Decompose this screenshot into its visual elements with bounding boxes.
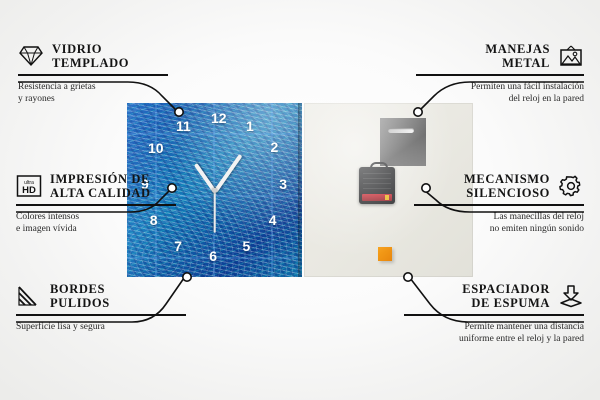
callout-mecanismo-silencioso: MECANISMO SILENCIOSO Las manecillas del … (414, 172, 584, 235)
callout-header: BORDES PULIDOS (16, 282, 186, 310)
callout-header: MECANISMO SILENCIOSO (414, 172, 584, 200)
title-line-2: SILENCIOSO (464, 186, 550, 200)
clock-number-10: 10 (148, 141, 164, 155)
sub-line-2: y rayones (18, 93, 168, 105)
callout-title: BORDES PULIDOS (50, 282, 110, 310)
title-line-1: BORDES (50, 282, 110, 296)
callout-title: ESPACIADOR DE ESPUMA (462, 282, 550, 310)
sub-line-1: Superficie lisa y segura (16, 321, 186, 333)
sub-line-2: del reloj en la pared (416, 93, 584, 105)
foam-spacer-arrow-icon (558, 283, 584, 309)
hanger-slot (388, 128, 414, 133)
clock-number-7: 7 (174, 239, 182, 253)
title-line-1: IMPRESIÓN DE (50, 172, 151, 186)
title-line-1: MECANISMO (464, 172, 550, 186)
sub-line-1: Colores intensos (16, 211, 176, 223)
callout-rule (18, 74, 168, 76)
callout-rule (416, 74, 584, 76)
polished-edges-icon (16, 283, 42, 309)
clock-number-5: 5 (243, 239, 251, 253)
sub-line-2: no emiten ningún sonido (414, 223, 584, 235)
sub-line-1: Permiten una fácil instalación (416, 81, 584, 93)
title-line-2: ALTA CALIDAD (50, 186, 151, 200)
metal-hanger-plate (380, 118, 426, 166)
title-line-1: VIDRIO (52, 42, 129, 56)
title-line-1: MANEJAS (485, 42, 550, 56)
sub-line-1: Las manecillas del reloj (414, 211, 584, 223)
sub-line-1: Resistencia a grietas (18, 81, 168, 93)
gear-icon (558, 173, 584, 199)
title-line-2: TEMPLADO (52, 56, 129, 70)
clock-number-11: 11 (176, 119, 191, 133)
title-line-2: PULIDOS (50, 296, 110, 310)
callout-bordes-pulidos: BORDES PULIDOS Superficie lisa y segura (16, 282, 186, 333)
clock-second-hand (214, 191, 216, 233)
svg-text:HD: HD (22, 185, 36, 196)
title-line-2: DE ESPUMA (462, 296, 550, 310)
title-line-1: ESPACIADOR (462, 282, 550, 296)
orange-foam-spacer (378, 247, 392, 261)
clock-center-pin (212, 188, 217, 193)
callout-header: MANEJAS METAL (416, 42, 584, 70)
callout-title: IMPRESIÓN DE ALTA CALIDAD (50, 172, 151, 200)
callout-header: ultra HD IMPRESIÓN DE ALTA CALIDAD (16, 172, 176, 200)
callout-rule (16, 314, 186, 316)
mechanism-hanger-loop (370, 162, 388, 171)
clock-number-4: 4 (269, 213, 277, 227)
callout-title: MANEJAS METAL (485, 42, 550, 70)
callout-header: VIDRIO TEMPLADO (18, 42, 168, 70)
callout-manejas-metal: MANEJAS METAL Permiten una fácil instala… (416, 42, 584, 105)
clock-number-12: 12 (211, 111, 227, 125)
diamond-icon (18, 43, 44, 69)
infographic-canvas: 12 1 2 3 4 5 6 7 8 9 10 11 (0, 0, 600, 400)
sub-line-2: uniforme entre el reloj y la pared (404, 333, 584, 345)
clock-number-1: 1 (246, 119, 254, 133)
callout-title: MECANISMO SILENCIOSO (464, 172, 550, 200)
quartz-clock-mechanism (359, 167, 395, 204)
mechanism-battery-label (362, 194, 392, 201)
callout-title: VIDRIO TEMPLADO (52, 42, 129, 70)
callout-vidrio-templado: VIDRIO TEMPLADO Resistencia a grietas y … (18, 42, 168, 105)
callout-impresion-alta-calidad: ultra HD IMPRESIÓN DE ALTA CALIDAD Color… (16, 172, 176, 235)
hanging-frame-icon (558, 43, 584, 69)
callout-rule (414, 204, 584, 206)
callout-espaciador-de-espuma: ESPACIADOR DE ESPUMA Permite mantener un… (404, 282, 584, 345)
callout-rule (404, 314, 584, 316)
clock-number-2: 2 (271, 140, 279, 154)
sub-line-2: e imagen vívida (16, 223, 176, 235)
clock-number-6: 6 (209, 249, 217, 263)
mechanism-detail-lines (363, 173, 391, 189)
title-line-2: METAL (485, 56, 550, 70)
clock-panel-edge (298, 103, 302, 277)
callout-rule (16, 204, 176, 206)
sub-line-1: Permite mantener una distancia (404, 321, 584, 333)
clock-number-3: 3 (279, 177, 287, 191)
ultra-hd-badge-icon: ultra HD (16, 173, 42, 199)
callout-header: ESPACIADOR DE ESPUMA (404, 282, 584, 310)
